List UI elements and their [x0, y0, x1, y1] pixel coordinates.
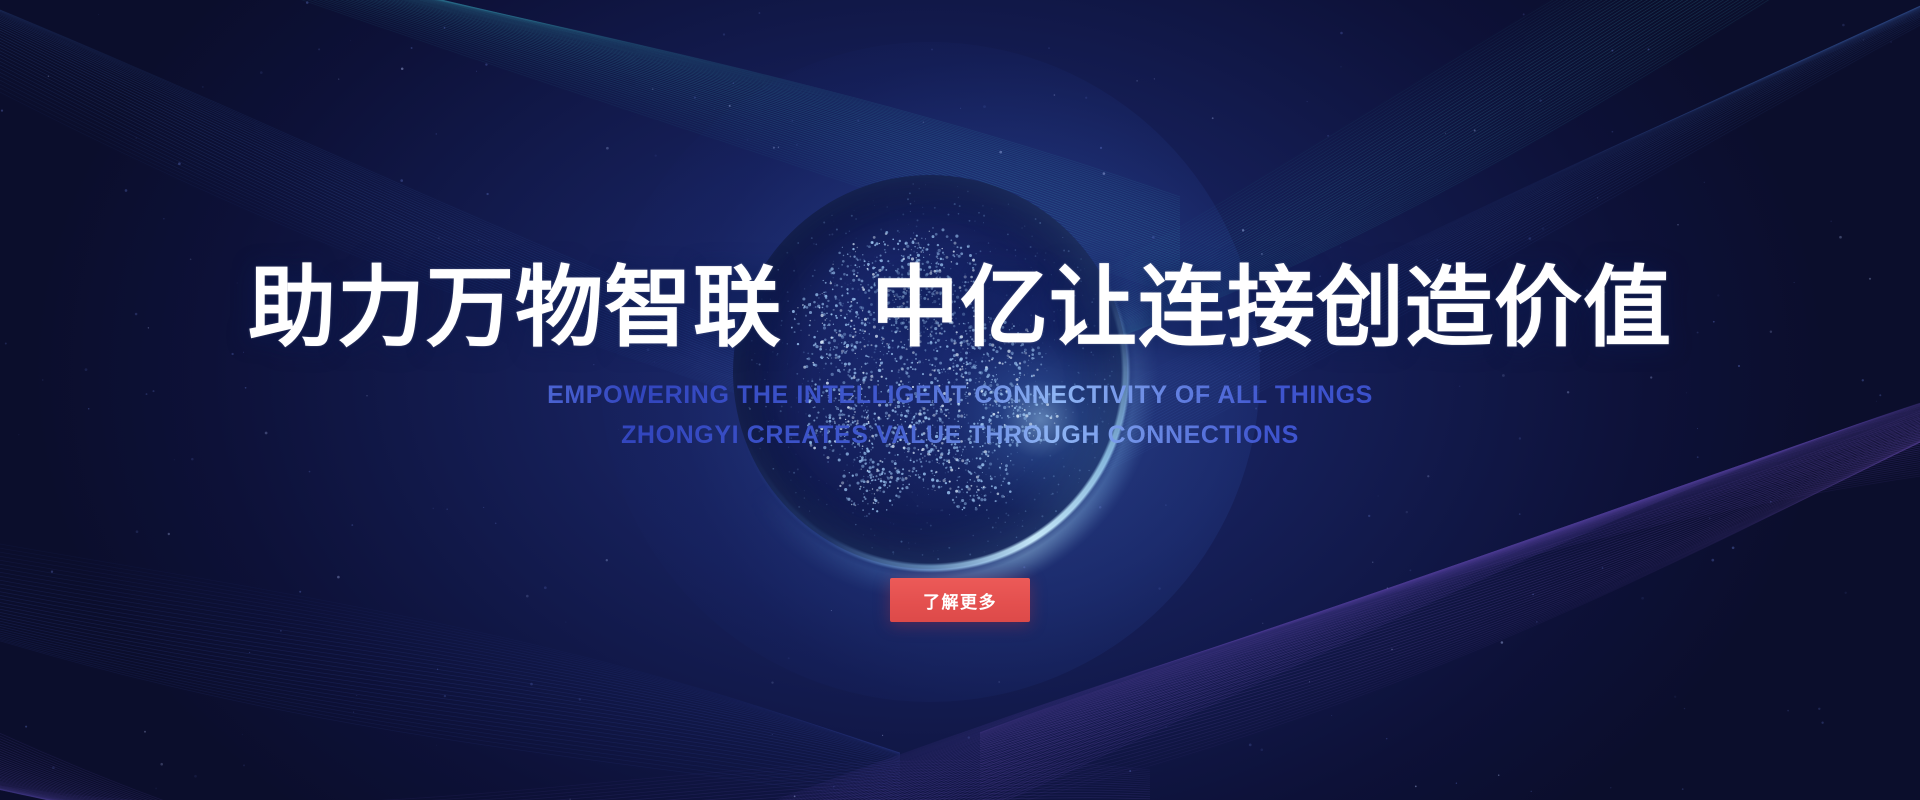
page-title: 助力万物智联 中亿让连接创造价值: [0, 258, 1920, 358]
hero-content: 助力万物智联 中亿让连接创造价值 EMPOWERING THE INTELLIG…: [0, 0, 1920, 800]
hero-subtitle: EMPOWERING THE INTELLIGENT CONNECTIVITY …: [0, 375, 1920, 455]
hero-banner: 助力万物智联 中亿让连接创造价值 EMPOWERING THE INTELLIG…: [0, 0, 1920, 800]
learn-more-button[interactable]: 了解更多: [890, 578, 1030, 622]
hero-subtitle-line-1: EMPOWERING THE INTELLIGENT CONNECTIVITY …: [0, 375, 1920, 415]
hero-subtitle-line-2: ZHONGYI CREATES VALUE THROUGH CONNECTION…: [0, 415, 1920, 455]
